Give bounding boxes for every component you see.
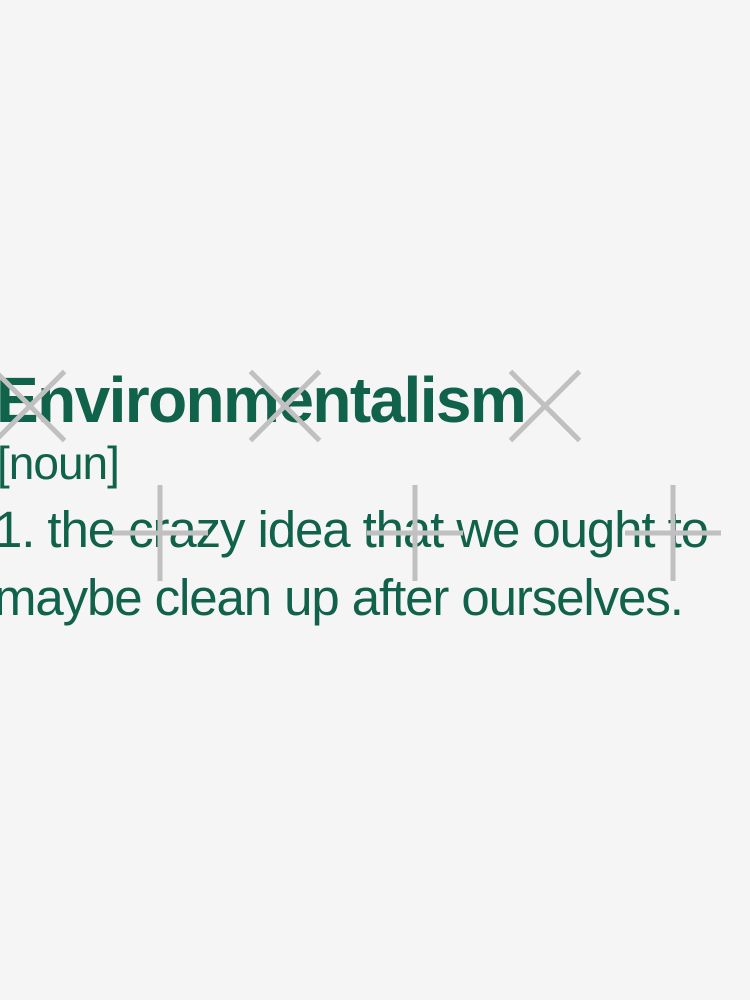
definition-headword: Environmentalism — [0, 366, 525, 434]
definition-sense-line-1: 1. the crazy idea that we ought to — [0, 500, 708, 560]
definition-part-of-speech: [noun] — [0, 437, 119, 489]
definition-block: Environmentalism [noun] 1. the crazy ide… — [0, 0, 750, 1000]
sticker-canvas: Environmentalism [noun] 1. the crazy ide… — [0, 0, 750, 1000]
definition-sense-line-2: maybe clean up after ourselves. — [0, 568, 683, 628]
